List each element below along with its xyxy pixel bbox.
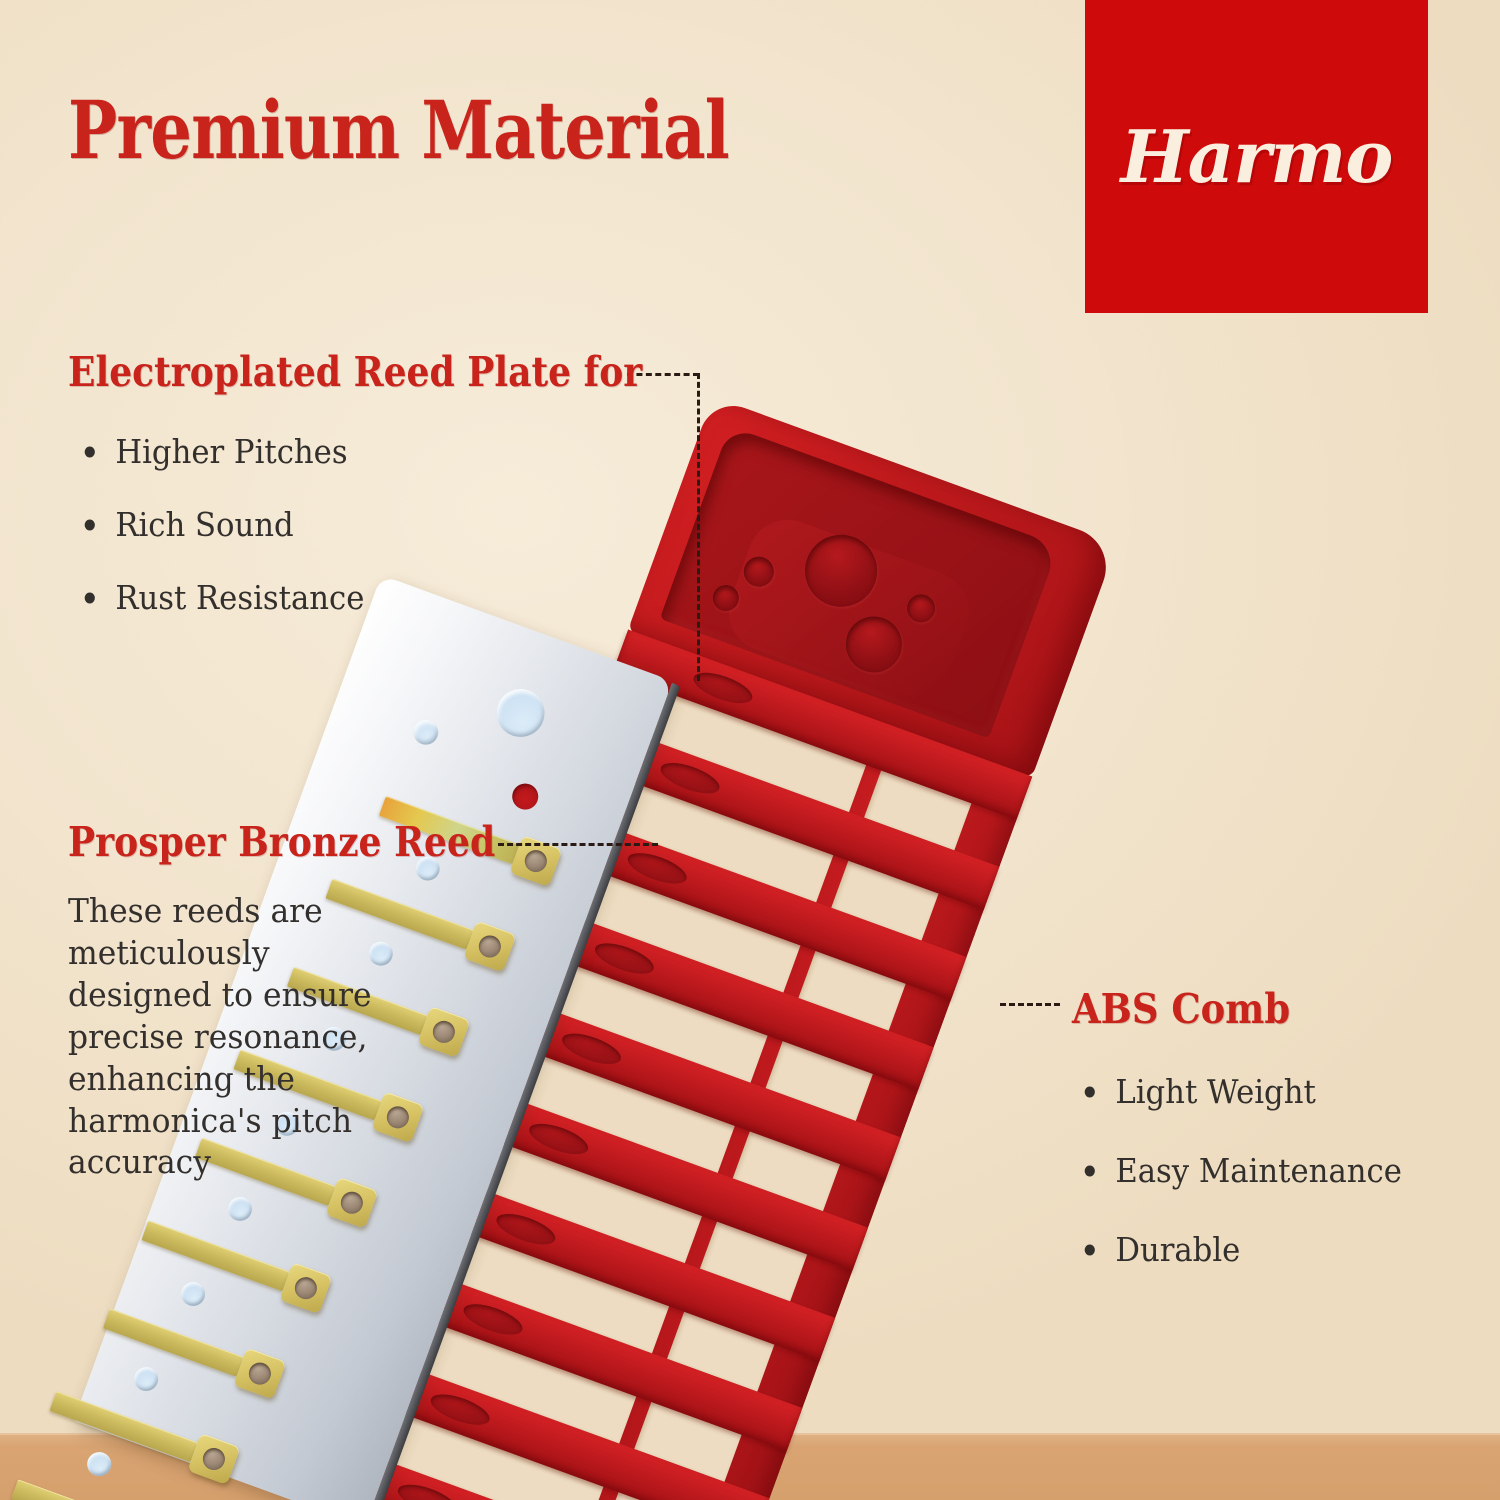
reed-rivet: [430, 1018, 458, 1046]
infographic-canvas: Premium Material Harmo Electroplated Ree…: [0, 0, 1500, 1500]
reed-rivet: [246, 1360, 274, 1388]
reed-plate-rivet-hole: [225, 1193, 256, 1224]
list-item-label: Rust Resistance: [115, 578, 364, 617]
bullet-list-abs-comb: Light Weight Easy Maintenance Durable: [1080, 1072, 1426, 1309]
brass-reed: [103, 1308, 244, 1376]
reed-plate-hole: [410, 716, 442, 748]
reed-rivet: [292, 1274, 320, 1302]
reed-rivet: [476, 932, 504, 960]
list-item: Durable: [1080, 1230, 1402, 1269]
page-title: Premium Material: [68, 83, 729, 177]
brass-reed: [11, 1479, 152, 1500]
list-item-label: Higher Pitches: [115, 432, 347, 471]
bullet-dot-icon: [85, 519, 95, 530]
reed-plate-hole: [490, 682, 552, 744]
list-item: Rust Resistance: [80, 578, 364, 617]
bullet-dot-icon: [1085, 1086, 1095, 1097]
list-item: Rich Sound: [80, 505, 364, 544]
list-item-label: Easy Maintenance: [1115, 1151, 1402, 1190]
list-item-label: Durable: [1115, 1230, 1240, 1269]
brass-reed: [141, 1220, 289, 1291]
reed-plate-rivet-hole: [131, 1364, 162, 1395]
reed-plate-hole: [509, 780, 542, 813]
bullet-dot-icon: [1085, 1165, 1095, 1176]
leader-line-reed-plate: [697, 373, 700, 681]
bullet-dot-icon: [85, 446, 95, 457]
reed-plate-rivet-hole: [178, 1279, 209, 1310]
reed-plate-rivet-hole: [84, 1449, 115, 1480]
list-item-label: Light Weight: [1115, 1072, 1315, 1111]
list-item: Light Weight: [1080, 1072, 1402, 1111]
callout-paragraph-bronze-reed: These reeds are meticulously designed to…: [68, 890, 396, 1183]
bullet-dot-icon: [85, 592, 95, 603]
reed-rivet: [522, 847, 550, 875]
bullet-list-reed-plate: Higher Pitches Rich Sound Rust Resistanc…: [80, 432, 386, 651]
brass-reed: [49, 1391, 197, 1462]
brand-logo-wordmark: Harmo: [1085, 0, 1428, 313]
leader-line-bronze-reed: [498, 843, 658, 846]
list-item-label: Rich Sound: [115, 505, 293, 544]
reed-rivet: [200, 1445, 228, 1473]
list-item: Easy Maintenance: [1080, 1151, 1402, 1190]
callout-heading-reed-plate: Electroplated Reed Plate for: [68, 348, 642, 396]
leader-line-abs-comb: [1000, 1003, 1060, 1006]
callout-heading-bronze-reed: Prosper Bronze Reed: [68, 818, 495, 866]
callout-heading-abs-comb: ABS Comb: [1072, 985, 1290, 1033]
reed-rivet: [338, 1189, 366, 1217]
list-item: Higher Pitches: [80, 432, 364, 471]
brand-logo: Harmo: [1085, 0, 1428, 313]
bullet-dot-icon: [1085, 1244, 1095, 1255]
